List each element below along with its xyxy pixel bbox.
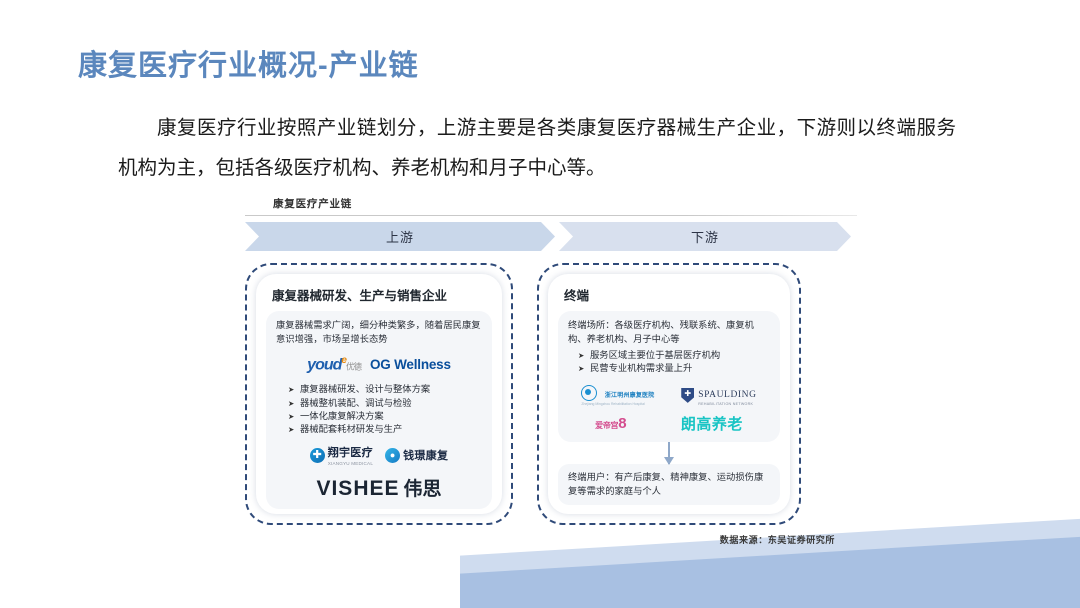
mingzhou-logo-cn: 浙江明州康复医院 [605, 393, 655, 399]
spaulding-logo: ✚ SPAULDING REHABILITATION NETWORK [681, 384, 756, 406]
vishee-logo-en: VISHEE [316, 477, 399, 501]
xiangyu-logo: ✚ 翔宇医疗 XIANGYU MEDICAL [310, 444, 373, 467]
figure-source: 数据来源：东吴证券研究所 [245, 533, 857, 546]
langao-logo-cn: 朗高养老 [681, 413, 743, 434]
page-title: 康复医疗行业概况-产业链 [78, 42, 419, 84]
downstream-bullet-list: 服务区域主要位于基层医疗机构 民营专业机构需求量上升 [568, 349, 770, 375]
panel-row: 康复器械研发、生产与销售企业 康复器械需求广阔，细分种类繁多，随着居民康复意识增… [245, 263, 857, 525]
og-wellness-logo: OG Wellness [370, 357, 451, 372]
upstream-logo-row-top: youde优德 OG Wellness [276, 355, 482, 374]
youde-logo-main: youd [307, 356, 341, 373]
shield-icon: ✚ [681, 388, 694, 403]
spaulding-logo-en: SPAULDING [698, 390, 756, 400]
downstream-logo-row-1: 浙江明州康复医院 Zhejiang Mingzhou Rehabilitatio… [568, 384, 770, 406]
downstream-panel-inner: 终端 终端场所：各级医疗机构、残联系统、康复机构、养老机构、月子中心等 服务区域… [548, 274, 790, 514]
upstream-brand-row: ✚ 翔宇医疗 XIANGYU MEDICAL ● 钱璟康复 [276, 444, 482, 467]
mingzhou-logo: 浙江明州康复医院 Zhejiang Mingzhou Rehabilitatio… [581, 384, 654, 406]
figure-divider [245, 215, 857, 216]
upstream-bullet-3: 一体化康复解决方案 [288, 410, 482, 423]
droplet-icon [581, 385, 597, 401]
downstream-bullet-2: 民营专业机构需求量上升 [578, 362, 770, 375]
spaulding-logo-sub: REHABILITATION NETWORK [698, 402, 756, 406]
industry-chain-figure: 康复医疗产业链 上游 下游 康复器械研发、生产与销售企业 康复器械需求广阔，细分… [245, 196, 857, 568]
chevron-downstream: 下游 [559, 222, 851, 251]
spaulding-text: SPAULDING REHABILITATION NETWORK [698, 384, 756, 406]
mingzhou-logo-en: Zhejiang Mingzhou Rehabilitation Hospita… [581, 402, 654, 406]
upstream-bullet-2: 器械整机装配、调试与检验 [288, 397, 482, 410]
upstream-bullet-1: 康复器械研发、设计与整体方案 [288, 383, 482, 396]
aidigong-logo-mark: 8 [618, 415, 626, 432]
upstream-card: 康复器械需求广阔，细分种类繁多，随着居民康复意识增强，市场呈增长态势 youde… [266, 311, 492, 509]
vishee-logo: VISHEE 伟思 [276, 474, 482, 501]
downstream-card: 终端场所：各级医疗机构、残联系统、康复机构、养老机构、月子中心等 服务区域主要位… [558, 311, 780, 442]
upstream-panel: 康复器械研发、生产与销售企业 康复器械需求广阔，细分种类繁多，随着居民康复意识增… [245, 263, 513, 525]
upstream-bullet-4: 器械配套耗材研发与生产 [288, 423, 482, 436]
xiangyu-text: 翔宇医疗 XIANGYU MEDICAL [328, 444, 373, 467]
arrow-down-icon [668, 442, 670, 464]
cross-icon: ✚ [310, 448, 325, 463]
youde-logo-cn: 优德 [346, 361, 361, 371]
aidigong-logo-cn: 爱帝宫 [595, 421, 618, 430]
aidigong-logo: 爱帝宫8 [595, 415, 626, 433]
downstream-description: 终端场所：各级医疗机构、残联系统、康复机构、养老机构、月子中心等 [568, 319, 770, 346]
qianjing-logo: ● 钱璟康复 [385, 447, 448, 463]
upstream-heading: 康复器械研发、生产与销售企业 [272, 285, 492, 304]
body-paragraph: 康复医疗行业按照产业链划分，上游主要是各类康复医疗器械生产企业，下游则以终端服务… [118, 108, 956, 188]
upstream-bullet-list: 康复器械研发、设计与整体方案 器械整机装配、调试与检验 一体化康复解决方案 器械… [276, 383, 482, 436]
vishee-logo-cn: 伟思 [404, 474, 442, 501]
downstream-panel: 终端 终端场所：各级医疗机构、残联系统、康复机构、养老机构、月子中心等 服务区域… [537, 263, 801, 525]
qianjing-logo-cn: 钱璟康复 [403, 447, 448, 463]
downstream-logo-row-2: 爱帝宫8 朗高养老 [568, 413, 770, 434]
chevron-upstream: 上游 [245, 222, 555, 251]
flow-arrow [558, 442, 780, 464]
youde-logo: youde优德 [307, 355, 361, 374]
downstream-bullet-1: 服务区域主要位于基层医疗机构 [578, 349, 770, 362]
enduser-card: 终端用户：有产后康复、精神康复、运动损伤康复等需求的家庭与个人 [558, 464, 780, 505]
xiangyu-logo-en: XIANGYU MEDICAL [328, 462, 373, 467]
upstream-panel-inner: 康复器械研发、生产与销售企业 康复器械需求广阔，细分种类繁多，随着居民康复意识增… [256, 274, 502, 514]
figure-title: 康复医疗产业链 [245, 196, 857, 215]
chevron-band-row: 上游 下游 [245, 222, 857, 251]
upstream-description: 康复器械需求广阔，细分种类繁多，随着居民康复意识增强，市场呈增长态势 [276, 319, 482, 346]
downstream-heading: 终端 [564, 285, 780, 304]
person-icon: ● [385, 448, 400, 463]
xiangyu-logo-cn: 翔宇医疗 [328, 447, 373, 459]
